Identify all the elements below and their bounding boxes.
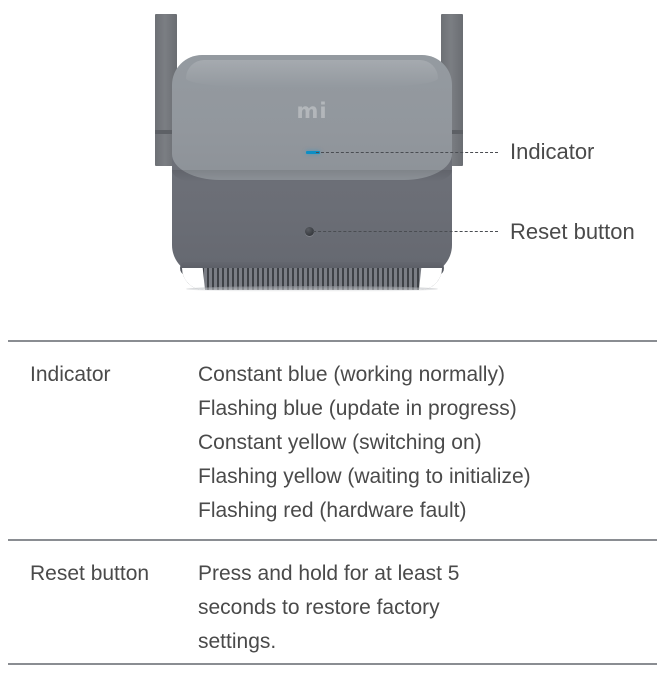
spec-values-indicator: Constant blue (working normally) Flashin… xyxy=(198,358,665,528)
table-divider-top xyxy=(8,340,657,342)
spec-value-line: seconds to restore factory xyxy=(198,591,665,625)
spec-label-reset-button: Reset button xyxy=(0,557,198,659)
table-divider-bottom xyxy=(8,663,657,665)
spec-value-line: Constant blue (working normally) xyxy=(198,358,665,392)
spec-value-line: Press and hold for at least 5 xyxy=(198,557,665,591)
spec-value-line: settings. xyxy=(198,625,665,659)
callout-label-reset: Reset button xyxy=(510,221,635,243)
device-drop-shadow xyxy=(186,286,438,292)
device-illustration: mi Indicator Reset button xyxy=(0,0,665,330)
spec-values-reset-button: Press and hold for at least 5 seconds to… xyxy=(198,557,665,659)
indicator-leader-line xyxy=(316,152,498,153)
spec-value-line: Constant yellow (switching on) xyxy=(198,426,665,460)
spec-value-line: Flashing blue (update in progress) xyxy=(198,392,665,426)
device-seam-line xyxy=(172,170,452,182)
callout-label-indicator: Indicator xyxy=(510,141,594,163)
reset-button-leader-line xyxy=(313,231,498,232)
table-row: Indicator Constant blue (working normall… xyxy=(0,358,665,528)
table-row: Reset button Press and hold for at least… xyxy=(0,557,665,659)
spec-value-line: Flashing red (hardware fault) xyxy=(198,494,665,528)
mi-brand-logo-icon: mi xyxy=(290,100,334,122)
table-divider-middle xyxy=(8,539,657,541)
spec-value-line: Flashing yellow (waiting to initialize) xyxy=(198,460,665,494)
spec-label-indicator: Indicator xyxy=(0,358,198,528)
device-top-highlight xyxy=(186,60,438,88)
